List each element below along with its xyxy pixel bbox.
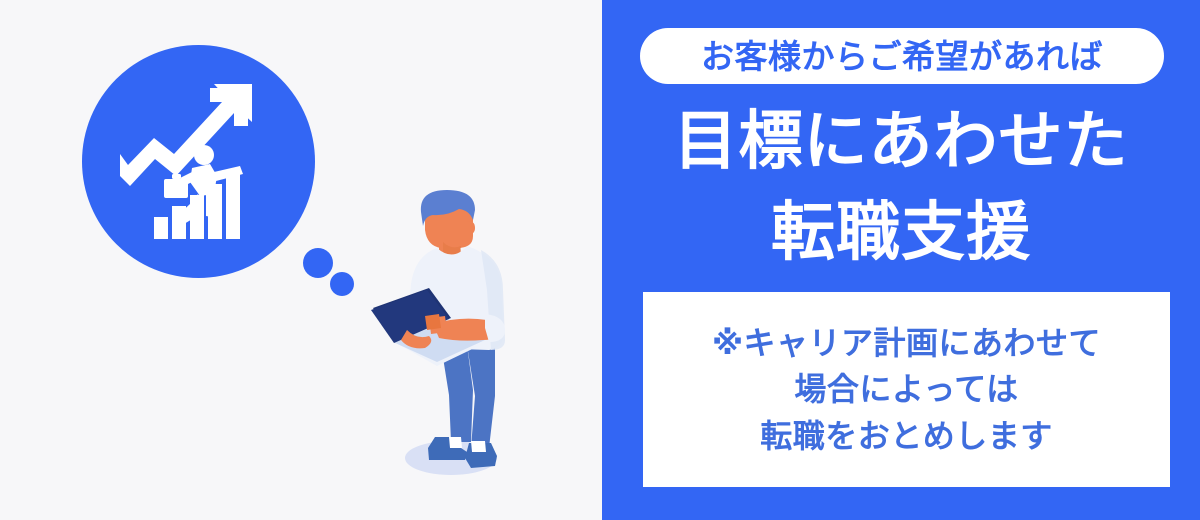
promo-banner: お客様からご希望があれば 目標にあわせた 転職支援 ※キャリア計画にあわせて 場…: [0, 0, 1200, 520]
note-box: ※キャリア計画にあわせて 場合によっては 転職をおとめします: [643, 292, 1170, 487]
headline: 目標にあわせた 転職支援: [602, 96, 1200, 278]
illustration-panel: [0, 0, 602, 520]
message-panel: お客様からご希望があれば 目標にあわせた 転職支援 ※キャリア計画にあわせて 場…: [602, 0, 1200, 520]
badge-pill: お客様からご希望があれば: [640, 28, 1164, 84]
growth-chart-running-businessman-icon: [118, 78, 278, 243]
man-with-laptop-illustration: [355, 190, 555, 490]
thought-dot-large: [303, 248, 333, 278]
badge-pill-label: お客様からご希望があれば: [701, 40, 1103, 73]
note-line-1: ※キャリア計画にあわせて: [712, 320, 1101, 366]
note-line-3: 転職をおとめします: [760, 413, 1053, 459]
note-line-2: 場合によっては: [794, 366, 1018, 412]
thought-dot-small: [330, 272, 354, 296]
headline-line-2: 転職支援: [602, 187, 1200, 278]
headline-line-1: 目標にあわせた: [602, 96, 1200, 187]
